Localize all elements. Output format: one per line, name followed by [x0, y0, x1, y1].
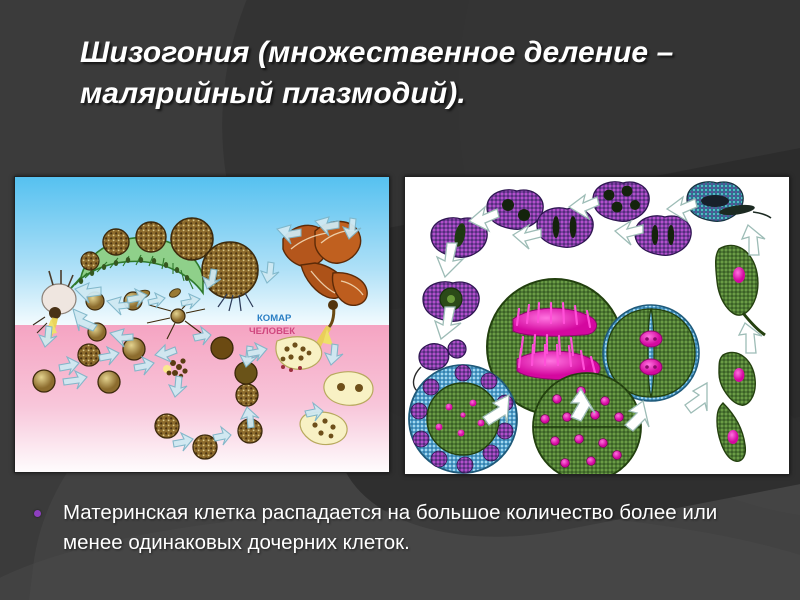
- figure-malaria-life-cycle: КОМАР ЧЕЛОВЕК: [14, 176, 390, 473]
- label-human: ЧЕЛОВЕК: [249, 326, 295, 337]
- stage-cell-4: [593, 182, 649, 222]
- slide-title: Шизогония (множественное деление – маляр…: [80, 32, 740, 115]
- figure-right-canvas: [405, 177, 789, 474]
- bullet-dot-icon: [34, 510, 41, 517]
- stage-cell-5: [635, 216, 691, 256]
- figure-left-canvas: КОМАР ЧЕЛОВЕК: [15, 177, 389, 472]
- malaria-life-cycle-art: КОМАР ЧЕЛОВЕК: [15, 177, 389, 472]
- figure-schizogony-stages: [404, 176, 790, 475]
- body-bullet-row: Материнская клетка распадается на большо…: [34, 498, 774, 557]
- merozoite-rosette-cell: [409, 365, 517, 473]
- label-mosquito: КОМАР: [257, 313, 292, 324]
- slide-canvas: Шизогония (множественное деление – маляр…: [0, 0, 800, 600]
- body-text: Материнская клетка распадается на большо…: [63, 498, 774, 557]
- schizogony-stages-art: [405, 177, 789, 474]
- cleavage-cell: [533, 373, 641, 474]
